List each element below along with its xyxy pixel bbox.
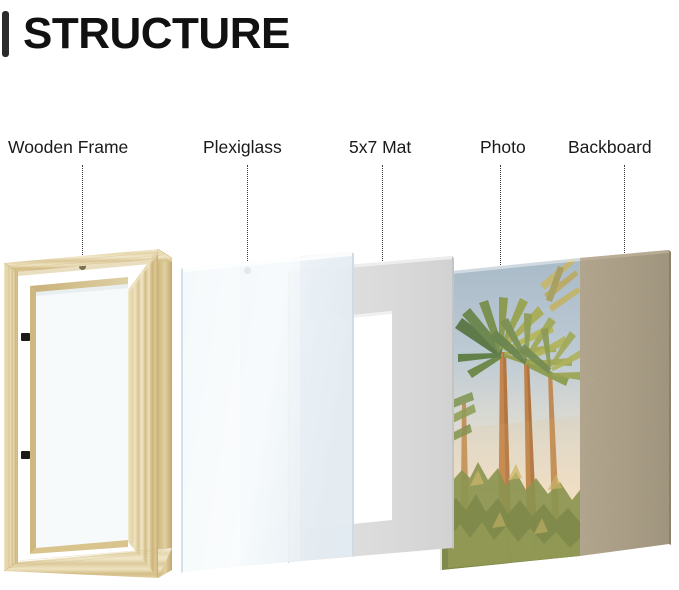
layer-wooden-frame xyxy=(4,249,172,578)
frame-clip-lower xyxy=(21,451,30,459)
exploded-view-diagram xyxy=(0,0,679,590)
frame-clip-upper xyxy=(21,333,30,341)
layer-photo xyxy=(440,258,580,571)
layer-backboard xyxy=(580,250,671,556)
layer-plexiglass xyxy=(181,252,354,573)
